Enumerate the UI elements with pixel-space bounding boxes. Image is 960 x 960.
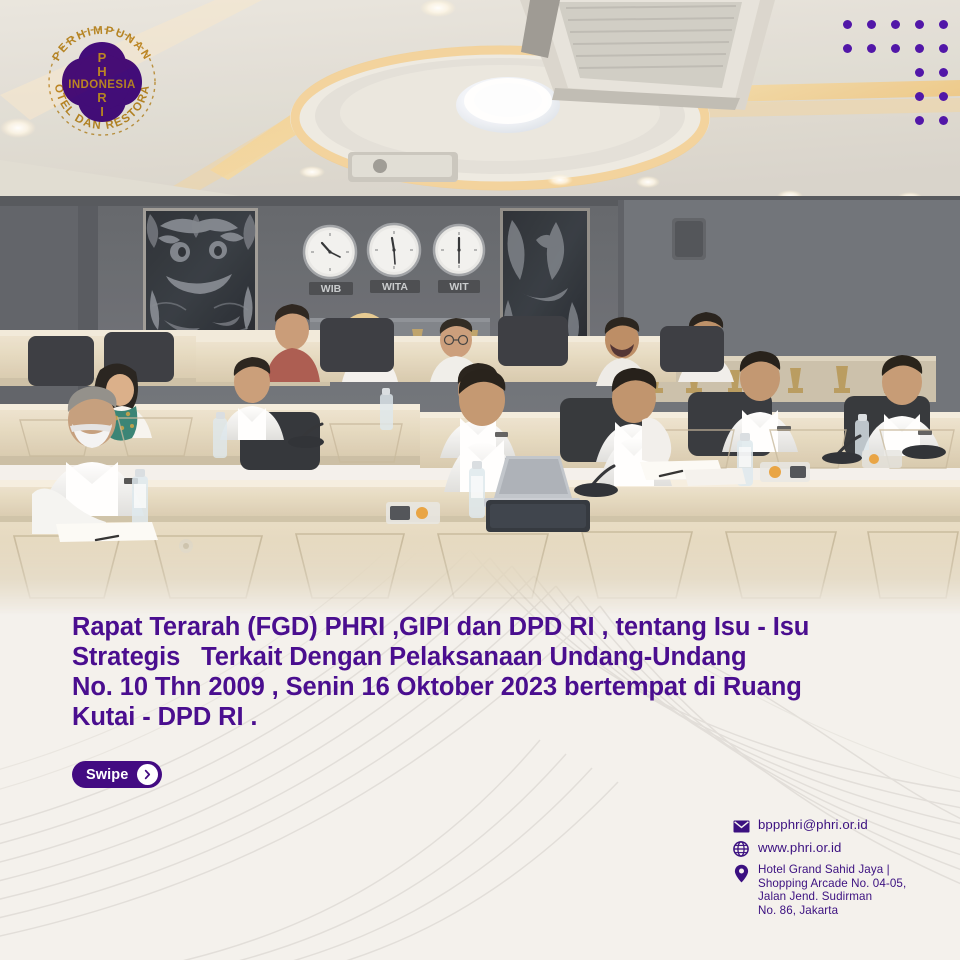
dot-2-4 — [939, 68, 948, 77]
map-pin-icon — [732, 864, 750, 882]
title-line-1: Rapat Terarah (FGD) PHRI ,GIPI dan DPD R… — [72, 612, 902, 642]
social-media-post: WIB WITA — [0, 0, 960, 960]
phri-logo: PERHIMPUNAN HOTEL DAN RESTORAN P H R I I… — [38, 18, 166, 146]
envelope-icon — [732, 817, 750, 835]
title-line-4: Kutai - DPD RI . — [72, 702, 902, 732]
address-line-3: Jalan Jend. Sudirman — [758, 890, 906, 904]
swipe-button[interactable]: Swipe — [72, 761, 162, 788]
decorative-dot-grid — [843, 20, 948, 120]
contact-website-row[interactable]: www.phri.or.id — [732, 840, 952, 858]
dot-0-2 — [891, 20, 900, 29]
dot-0-4 — [939, 20, 948, 29]
dot-1-2 — [891, 44, 900, 53]
svg-text:P: P — [98, 50, 107, 65]
dot-3-4 — [939, 92, 948, 101]
svg-text:INDONESIA: INDONESIA — [68, 79, 136, 91]
contact-address-row: Hotel Grand Sahid Jaya | Shopping Arcade… — [732, 863, 952, 917]
post-title: Rapat Terarah (FGD) PHRI ,GIPI dan DPD R… — [72, 612, 902, 732]
contact-block: bppphri@phri.or.id www.phri.or.id — [732, 817, 952, 922]
swipe-label: Swipe — [86, 767, 128, 783]
dot-4-3 — [915, 116, 924, 125]
dot-0-3 — [915, 20, 924, 29]
address-line-2: Shopping Arcade No. 04-05, — [758, 877, 906, 891]
title-line-2: Strategis Terkait Dengan Pelaksanaan Und… — [72, 642, 902, 672]
dot-1-4 — [939, 44, 948, 53]
dot-3-3 — [915, 92, 924, 101]
svg-text:H: H — [97, 64, 106, 79]
svg-text:I: I — [100, 104, 104, 119]
globe-icon — [732, 840, 750, 858]
address-line-1: Hotel Grand Sahid Jaya | — [758, 863, 906, 877]
dot-4-4 — [939, 116, 948, 125]
contact-address: Hotel Grand Sahid Jaya | Shopping Arcade… — [758, 863, 906, 917]
contact-website: www.phri.or.id — [758, 840, 842, 855]
dot-0-0 — [843, 20, 852, 29]
dot-0-1 — [867, 20, 876, 29]
svg-text:R: R — [97, 90, 107, 105]
dot-1-0 — [843, 44, 852, 53]
dot-1-3 — [915, 44, 924, 53]
dot-1-1 — [867, 44, 876, 53]
contact-email: bppphri@phri.or.id — [758, 817, 868, 832]
title-line-3: No. 10 Thn 2009 , Senin 16 Oktober 2023 … — [72, 672, 902, 702]
chevron-right-icon — [137, 764, 158, 785]
contact-email-row[interactable]: bppphri@phri.or.id — [732, 817, 952, 835]
dot-2-3 — [915, 68, 924, 77]
address-line-4: No. 86, Jakarta — [758, 904, 906, 918]
